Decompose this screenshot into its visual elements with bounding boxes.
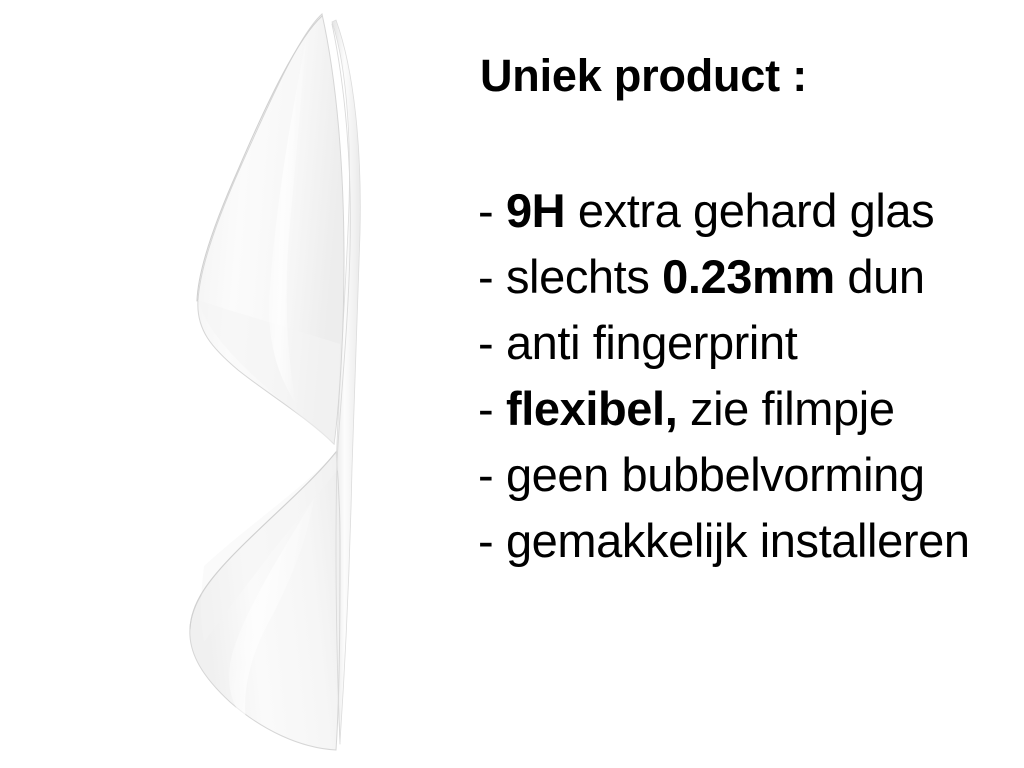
bullet-dash: - bbox=[478, 310, 493, 376]
feature-item-no-bubbles: - geen bubbelvorming bbox=[478, 442, 970, 508]
bullet-dash: - bbox=[478, 178, 493, 244]
feature-text: geen bubbelvorming bbox=[506, 448, 925, 501]
page-title: Uniek product : bbox=[480, 50, 807, 102]
product-image bbox=[100, 0, 440, 768]
feature-text: flexibel, zie filmpje bbox=[506, 382, 895, 435]
feature-plain: zie filmpje bbox=[677, 382, 894, 435]
feature-text: anti fingerprint bbox=[506, 316, 797, 369]
feature-emphasis: 9H bbox=[506, 184, 565, 237]
feature-plain: slechts bbox=[506, 250, 662, 303]
feature-text: slechts 0.23mm dun bbox=[506, 250, 925, 303]
feature-emphasis: 0.23mm bbox=[662, 250, 835, 303]
bullet-dash: - bbox=[478, 442, 493, 508]
twisted-glass-illustration bbox=[100, 0, 440, 768]
bullet-dash: - bbox=[478, 244, 493, 310]
bullet-dash: - bbox=[478, 376, 493, 442]
feature-plain: gemakkelijk installeren bbox=[506, 514, 970, 567]
feature-item-flexible: - flexibel, zie filmpje bbox=[478, 376, 970, 442]
feature-plain: extra gehard glas bbox=[565, 184, 934, 237]
feature-item-easy-install: - gemakkelijk installeren bbox=[478, 508, 970, 574]
feature-plain: anti fingerprint bbox=[506, 316, 797, 369]
copy-block: Uniek product : - 9H extra gehard glas -… bbox=[478, 0, 1024, 768]
feature-text: 9H extra gehard glas bbox=[506, 184, 934, 237]
feature-emphasis: flexibel, bbox=[506, 382, 677, 435]
feature-plain: dun bbox=[835, 250, 925, 303]
feature-item-thickness: - slechts 0.23mm dun bbox=[478, 244, 970, 310]
feature-item-9h: - 9H extra gehard glas bbox=[478, 178, 970, 244]
product-promo-slide: Uniek product : - 9H extra gehard glas -… bbox=[0, 0, 1024, 768]
feature-item-anti-fingerprint: - anti fingerprint bbox=[478, 310, 970, 376]
feature-text: gemakkelijk installeren bbox=[506, 514, 970, 567]
feature-list: - 9H extra gehard glas - slechts 0.23mm … bbox=[478, 178, 970, 574]
feature-plain: geen bubbelvorming bbox=[506, 448, 925, 501]
bullet-dash: - bbox=[478, 508, 493, 574]
